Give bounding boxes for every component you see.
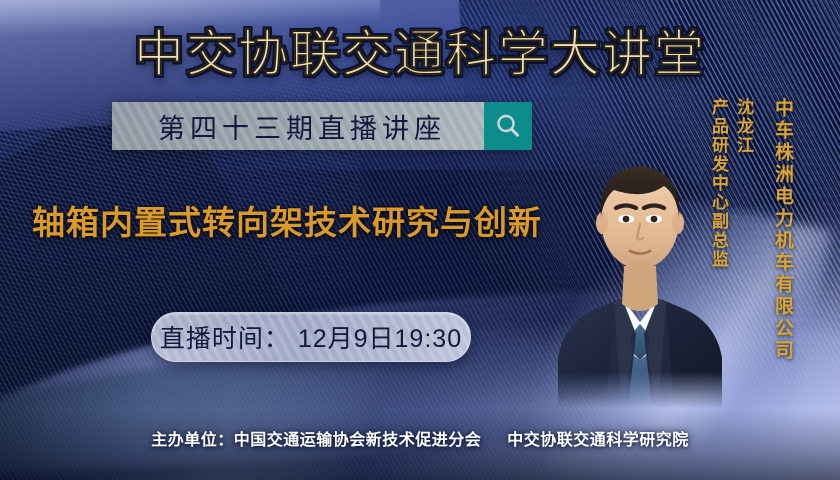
speaker-name: 沈龙江 [734,98,753,155]
footer-organizers: 主办单位：中国交通运输协会新技术促进分会中交协联交通科学研究院 [0,426,840,450]
broadcast-time-text: 直播时间： 12月9日19:30 [160,319,462,355]
episode-banner: 第四十三期直播讲座 [112,102,532,150]
search-icon [484,102,532,150]
broadcast-time-badge: 直播时间： 12月9日19:30 [151,312,471,362]
episode-label: 第四十三期直播讲座 [150,107,446,146]
organizer-label: 主办单位： [151,432,234,449]
episode-banner-body: 第四十三期直播讲座 [112,102,484,150]
speaker-company: 中车株洲电力机车有限公司 [769,98,796,378]
organizer-secondary: 中交协联交通科学研究院 [507,432,689,449]
speaker-identity: 沈龙江 产品研发中心副总监 [706,98,756,380]
poster-canvas: 中交协联交通科学大讲堂 第四十三期直播讲座 轴箱内置式转向架技术研究与创新 直播… [0,0,840,480]
speaker-title: 产品研发中心副总监 [709,98,728,269]
organizer-primary: 中国交通运输协会新技术促进分会 [234,432,482,449]
lecture-topic-title: 轴箱内置式转向架技术研究与创新 [32,196,542,244]
page-title: 中交协联交通科学大讲堂 [0,14,840,86]
